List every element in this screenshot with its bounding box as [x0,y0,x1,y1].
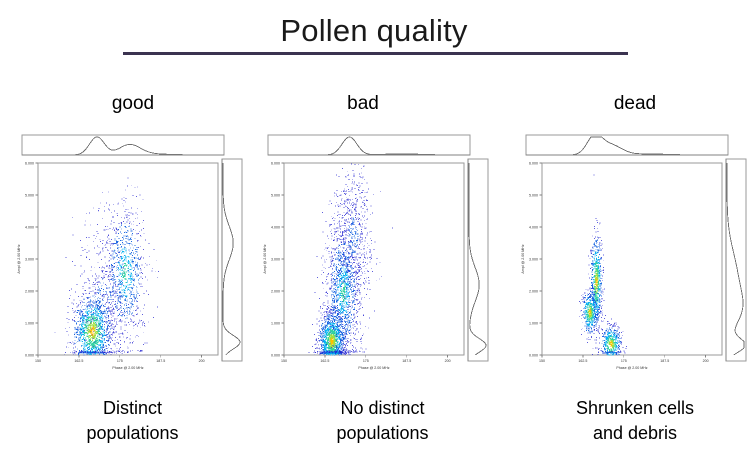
scatter-plot-dead: 150162.5175187.5200Phase @ 2.00 MHz0.000… [516,131,748,381]
column-header-bad: bad [288,93,438,115]
caption-dead-line2: and debris [530,421,740,446]
svg-text:187.5: 187.5 [156,359,165,363]
caption-dead: Shrunken cells and debris [530,396,740,446]
svg-text:175: 175 [117,359,123,363]
column-header-dead: dead [545,93,725,115]
caption-bad-line2: populations [280,421,485,446]
caption-good-line1: Distinct [30,396,235,421]
column-header-good: good [38,93,228,115]
svg-text:162.5: 162.5 [74,359,83,363]
svg-text:5.000: 5.000 [25,193,34,197]
svg-text:6.000: 6.000 [25,161,34,165]
svg-text:Ampl @ 2.00 MHz: Ampl @ 2.00 MHz [17,244,21,273]
svg-text:3.000: 3.000 [25,257,34,261]
scatter-plot-good: 150162.5175187.5200Phase @ 2.00 MHz0.000… [12,131,244,381]
svg-text:Phase @ 2.00 MHz: Phase @ 2.00 MHz [112,366,143,370]
page-title: Pollen quality [0,14,748,48]
svg-text:2.000: 2.000 [25,289,34,293]
caption-good: Distinct populations [30,396,235,446]
svg-text:1.000: 1.000 [25,321,34,325]
svg-text:0.000: 0.000 [25,353,34,357]
caption-bad: No distinct populations [280,396,485,446]
svg-text:200: 200 [199,359,205,363]
title-underline-rule [123,52,628,55]
scatter-plot-bad: 150162.5175187.5200Phase @ 2.00 MHz0.000… [258,131,490,381]
caption-bad-line1: No distinct [280,396,485,421]
caption-dead-line1: Shrunken cells [530,396,740,421]
caption-good-line2: populations [30,421,235,446]
svg-text:4.000: 4.000 [25,225,34,229]
svg-text:150: 150 [35,359,41,363]
